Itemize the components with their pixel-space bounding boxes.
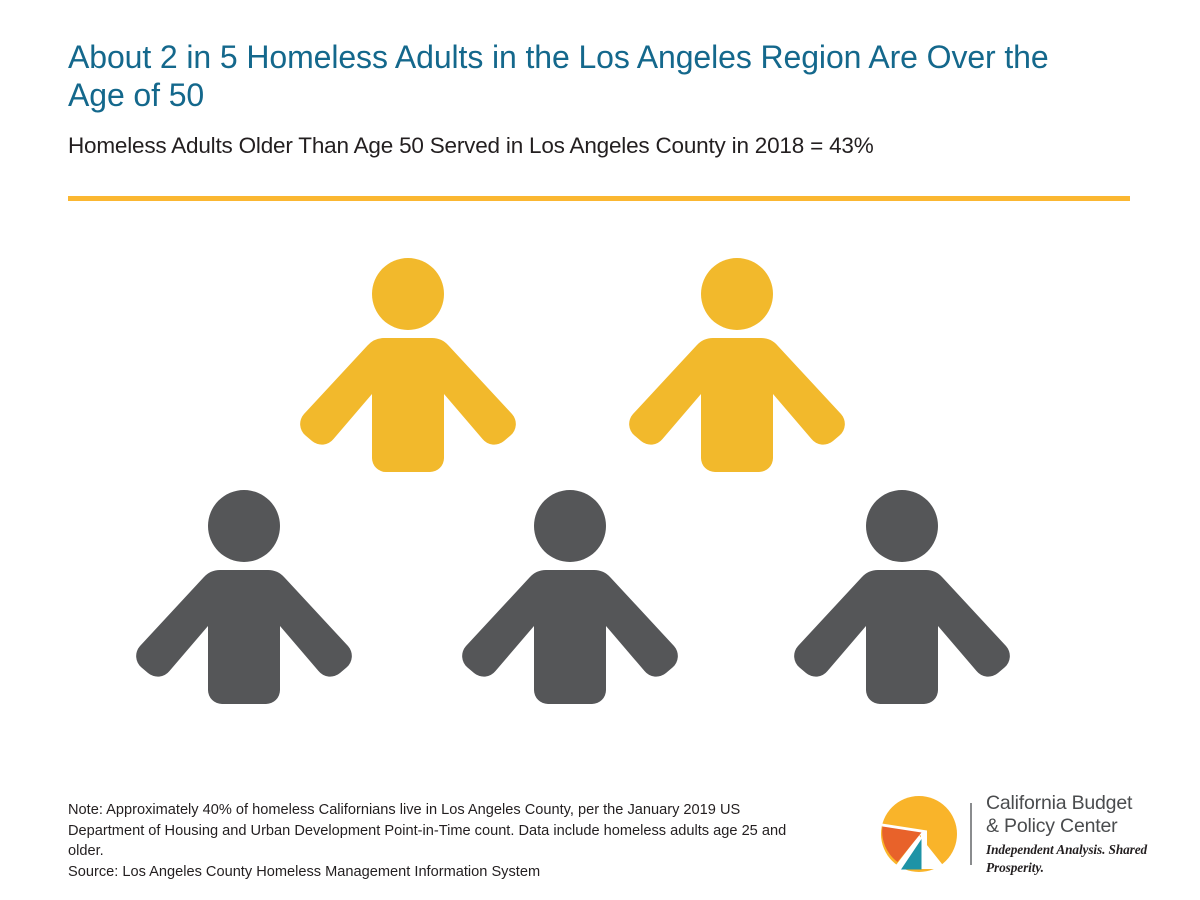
logo-divider (970, 803, 972, 865)
person-icon-highlighted-1 (296, 256, 520, 478)
person-icon-unhighlighted-3 (790, 488, 1014, 710)
logo-name-line-2: & Policy Center (986, 815, 1170, 838)
person-icon-unhighlighted-2 (458, 488, 682, 710)
logo-name-line-1: California Budget (986, 792, 1170, 815)
title-divider-rule (68, 196, 1130, 201)
person-icon-highlighted-2 (625, 256, 849, 478)
logo-tagline: Independent Analysis. Shared Prosperity. (986, 841, 1170, 877)
note-text: Note: Approximately 40% of homeless Cali… (68, 800, 808, 862)
source-text: Source: Los Angeles County Homeless Mana… (68, 862, 808, 883)
page-title: About 2 in 5 Homeless Adults in the Los … (68, 38, 1088, 114)
chart-header: About 2 in 5 Homeless Adults in the Los … (68, 38, 1130, 160)
cbpc-logo-mark-icon (880, 795, 958, 873)
footnotes: Note: Approximately 40% of homeless Cali… (68, 800, 808, 882)
logo-wordmark: California Budget & Policy Center Indepe… (986, 792, 1170, 877)
organization-logo: California Budget & Policy Center Indepe… (880, 792, 1170, 876)
person-icon-unhighlighted-1 (132, 488, 356, 710)
chart-subtitle: Homeless Adults Older Than Age 50 Served… (68, 132, 1130, 160)
